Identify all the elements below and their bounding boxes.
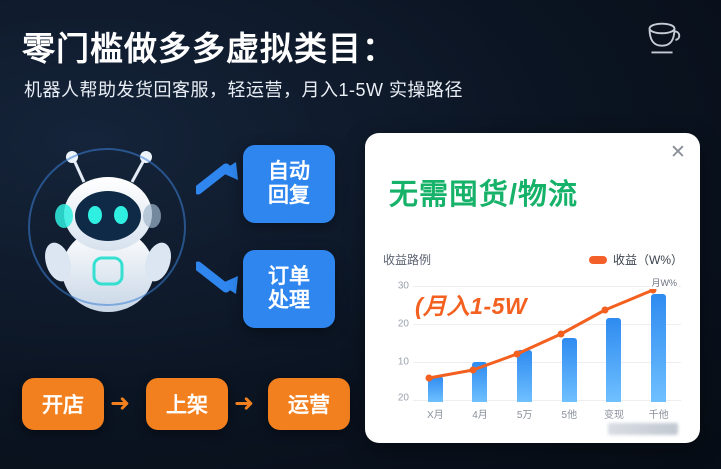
flow-chip-line1: 订单 (268, 265, 310, 289)
x-tick-label: 5他 (552, 406, 586, 422)
x-tick-label: X月 (418, 406, 452, 422)
page-subtitle: 机器人帮助发货回客服，轻运营，月入1-5W 实操路径 (24, 76, 463, 102)
x-tick-label: 千他 (642, 406, 676, 422)
legend-item-revenue: 收益（W%） (589, 251, 683, 268)
chart-caption: 收益路例 (383, 251, 431, 268)
pipeline-step-operate[interactable]: 运营 (268, 378, 350, 430)
x-tick-label: 变现 (597, 406, 631, 422)
x-tick-label: 4月 (463, 406, 497, 422)
flow-chip-line1: 自动 (268, 160, 310, 184)
x-tick-label: 5万 (508, 406, 542, 422)
robot-ring-decoration (28, 148, 186, 306)
y-tick-label: 30 (398, 281, 409, 292)
card-title: 无需囤货/物流 (389, 171, 689, 213)
page-title: 零门槛做多多虚拟类目： (22, 22, 396, 70)
chart-legend: 收益路例 收益（W%） (383, 251, 683, 269)
blurred-watermark (608, 423, 678, 435)
chart-trend-label: 月W% (650, 276, 680, 289)
arrow-right-icon (196, 160, 242, 200)
promo-card: ✕ 无需囤货/物流 收益路例 收益（W%） 30 20 10 20 (365, 133, 700, 443)
chart-x-axis: X月 4月 5万 5他 变现 千他 (413, 406, 681, 422)
y-tick-label: 10 (398, 357, 409, 368)
chart-y-axis: 30 20 10 20 (383, 278, 409, 402)
y-tick-label: 20 (398, 319, 409, 330)
close-icon[interactable]: ✕ (668, 143, 688, 163)
chart-annotation: (月入1-5W (415, 287, 527, 321)
legend-swatch-icon (589, 256, 607, 264)
arrow-right-icon: ➜ (234, 392, 264, 416)
flow-chip-line2: 回复 (268, 184, 310, 208)
legend-label-revenue: 收益（W%） (613, 251, 683, 268)
page-background: 零门槛做多多虚拟类目： 机器人帮助发货回客服，轻运营，月入1-5W 实操路径 (0, 0, 721, 469)
cup-icon (639, 16, 685, 62)
pipeline-step-list-product[interactable]: 上架 (146, 378, 228, 430)
pipeline-step-open-shop[interactable]: 开店 (22, 378, 104, 430)
flow-chip-order-processing[interactable]: 订单 处理 (243, 250, 335, 328)
arrow-right-icon (196, 256, 242, 296)
y-tick-label: 20 (398, 393, 409, 404)
flow-chip-line2: 处理 (268, 289, 310, 313)
arrow-right-icon: ➜ (110, 392, 140, 416)
flow-chip-auto-reply[interactable]: 自动 回复 (243, 145, 335, 223)
